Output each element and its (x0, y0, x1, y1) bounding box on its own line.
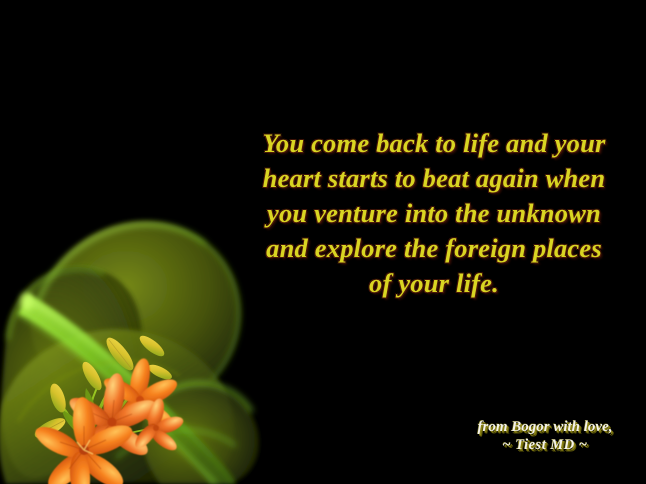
quote-text-block: You come back to life and your heart sta… (236, 126, 632, 301)
quote-line-2: heart starts to beat again when (236, 161, 632, 196)
lily-bloom-front (31, 396, 136, 484)
edge-highlight-diagonal (18, 298, 234, 484)
signature-block: from Bogor with love, ~ Tiest MD ~ (446, 418, 644, 454)
edge-highlight-lower (116, 383, 252, 458)
lily-bloom-upper (101, 357, 181, 434)
ribbon-node (21, 293, 33, 311)
lily-leaves (62, 388, 134, 438)
green-fractal-lens-artwork (0, 190, 270, 484)
signature-line-2: ~ Tiest MD ~ (446, 436, 644, 454)
edge-highlight-left (8, 269, 104, 340)
lens-shape-lower (0, 329, 234, 484)
quote-line-1: You come back to life and your (236, 126, 632, 161)
quote-line-4: and explore the foreign places (236, 231, 632, 266)
ribbon-sweep (18, 294, 236, 484)
lily-bloom-middle (65, 372, 160, 462)
lens-shape-lobe (142, 385, 259, 484)
lily-bloom-right (131, 397, 185, 454)
lens-shape-upper (31, 221, 241, 408)
orange-lily-bouquet (28, 310, 198, 484)
quote-image-canvas: You come back to life and your heart sta… (0, 0, 646, 484)
quote-line-3: you venture into the unknown (236, 196, 632, 231)
edge-highlight-top (36, 224, 239, 380)
lily-stems (58, 376, 158, 460)
lens-inner-sheen (18, 361, 180, 422)
lens-shape-left (1, 267, 142, 478)
quote-line-5: of your life. (236, 266, 632, 301)
signature-line-1: from Bogor with love, (446, 418, 644, 436)
lily-buds (32, 332, 174, 441)
